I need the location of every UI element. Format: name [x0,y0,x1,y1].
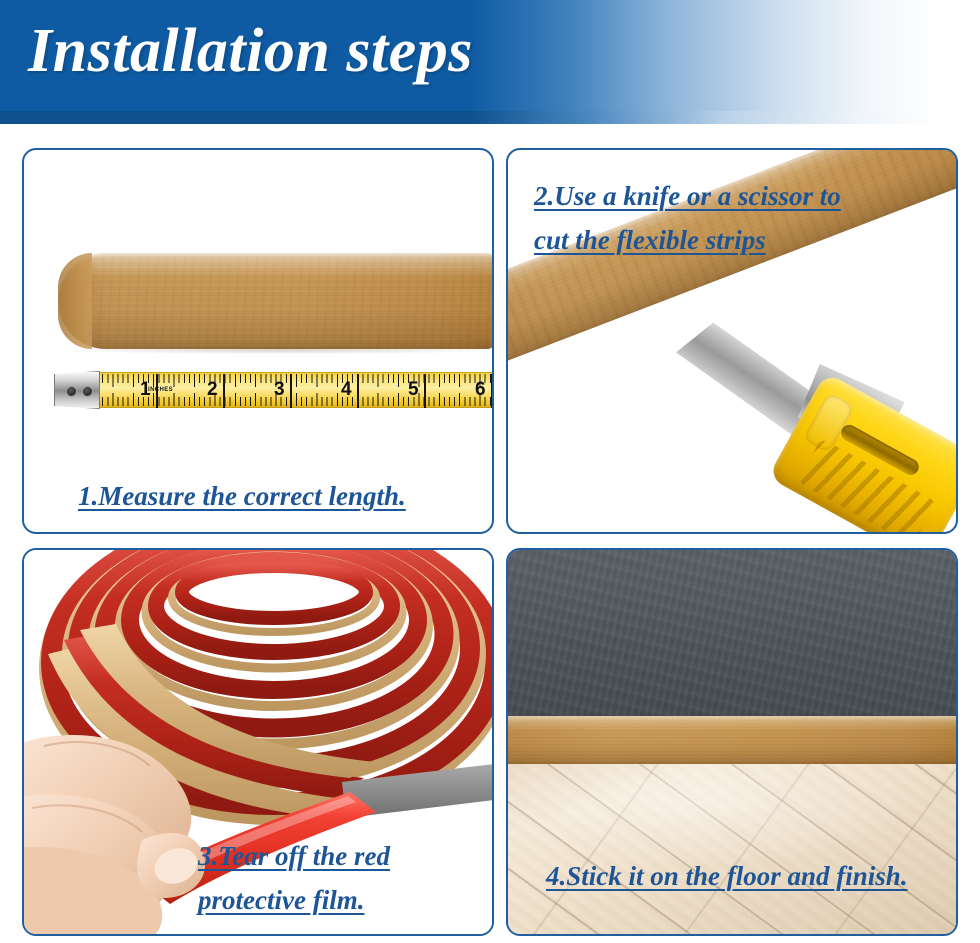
installed-trim-strip [508,716,956,764]
banner-underline [0,111,980,124]
tape-measure-image: 1 2 3 4 5 6 INCHES [54,372,494,408]
tape-major-tick [357,374,359,408]
tape-hook-rivet [82,386,93,397]
installation-steps-page: Installation steps 1 2 3 [0,0,980,943]
tape-unit-label: INCHES [148,387,173,393]
tape-number-3: 3 [274,380,285,399]
step-3-caption-line-1: 3.Tear off the red [198,836,390,876]
step-2-caption-line-1: 2.Use a knife or a scissor to [534,176,934,216]
tape-major-tick [424,374,426,408]
tape-ticks-bottom-coarse [92,393,494,406]
step-panel-3: 3.Tear off the red protective film. [22,548,494,936]
step-panel-4: 4.Stick it on the floor and finish. [506,548,958,936]
wood-trim-strip-image [58,253,494,349]
tape-number-6: 6 [475,380,486,399]
page-title: Installation steps [28,20,473,82]
tape-number-4: 4 [341,380,352,399]
coiled-strip-image [24,550,494,936]
tape-major-tick [290,374,292,408]
strip-shadow [72,346,492,354]
gray-wall-image [508,550,956,716]
step-2-caption-line-2: cut the flexible strips [534,220,934,260]
tape-body: 1 2 3 4 5 6 INCHES [92,372,494,408]
step-panel-2: 2.Use a knife or a scissor to cut the fl… [506,148,958,534]
tape-major-tick [491,374,493,408]
step-1-caption: 1.Measure the correct length. [78,476,406,516]
tape-number-5: 5 [408,380,419,399]
floor-light-sheen [508,764,956,934]
tape-number-2: 2 [207,380,218,399]
tape-major-tick [223,374,225,408]
step-4-caption: 4.Stick it on the floor and finish. [546,856,908,896]
strip-end-cap [58,253,92,349]
header-banner: Installation steps [0,0,980,124]
tape-ticks-top-coarse [92,374,494,387]
step-3-caption-line-2: protective film. [198,880,364,920]
tape-hook-rivet [66,386,77,397]
step-panel-1: 1 2 3 4 5 6 INCHES 1.Measure the correct… [22,148,494,534]
tape-hook-icon [54,371,100,409]
